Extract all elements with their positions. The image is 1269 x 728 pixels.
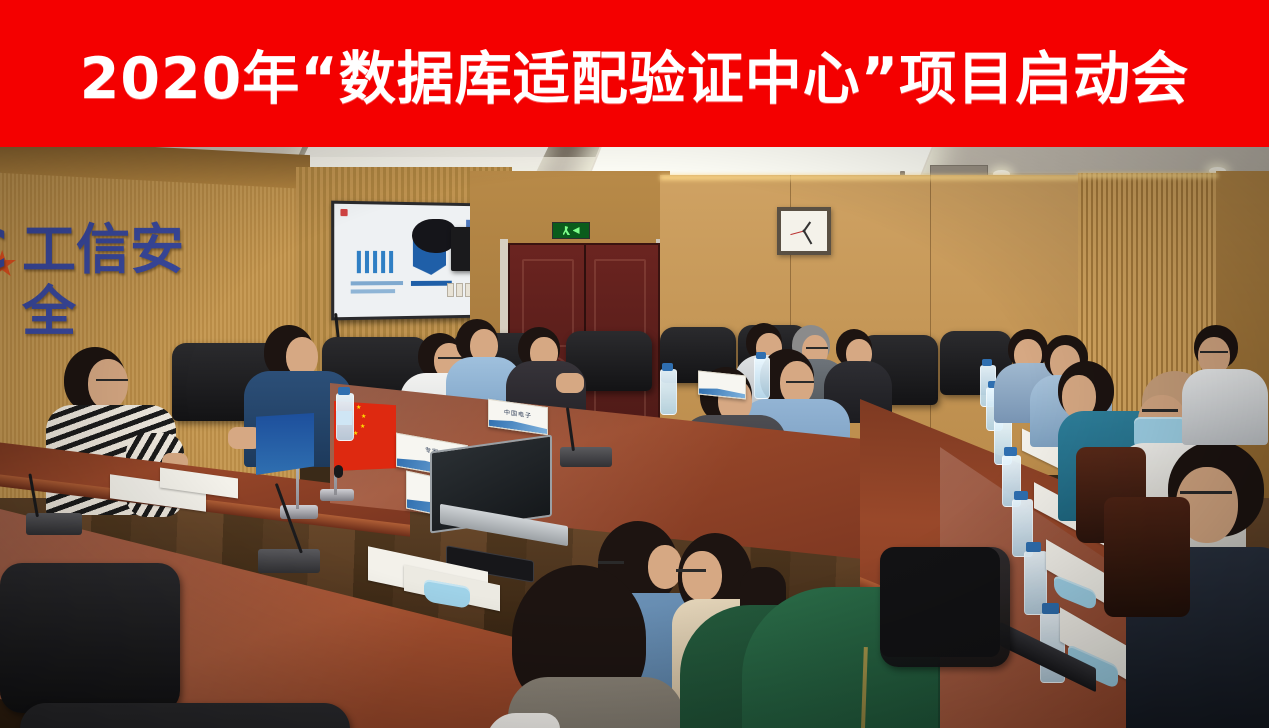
slide-caption-line [351,281,403,285]
clock-center-pin [803,230,806,233]
bottle-cap [982,359,992,366]
bottle-cap [1042,603,1059,614]
microphone-base[interactable] [560,447,612,467]
placard-text: 中国电子 [489,405,547,422]
face [648,545,682,589]
flag-star-icon: ★ [361,414,366,420]
clock-minute-hand [803,231,812,245]
cove-light [1078,173,1218,178]
meeting-photograph: ★ C 工信安全 [0,147,1269,728]
chair[interactable] [20,703,350,728]
bottle-cap [662,363,673,371]
glasses-icon [786,381,814,383]
bottle-cap [338,387,350,395]
banner-title-text: 2020年“数据库适配验证中心”项目启动会 [0,0,1269,147]
name-placard [698,370,746,399]
wall-clock [777,207,831,255]
glasses-icon [1142,409,1178,412]
chair[interactable] [1104,497,1190,617]
bottle-cap [1014,491,1028,500]
glasses-icon [676,569,706,572]
exit-sign [552,222,590,239]
wall-switch[interactable] [456,283,463,297]
glasses-icon [806,347,828,349]
wall-sign: ★ C 工信安全 [0,219,204,285]
water-bottle[interactable] [754,357,770,399]
organization-desk-flag [256,413,314,475]
slide-caption-line [411,281,452,286]
hand [556,373,584,393]
title-banner: 2020年“数据库适配验证中心”项目启动会 [0,0,1269,147]
flag-star-icon: ★ [356,405,361,411]
cove-light [660,175,1080,180]
bottle-cap [1026,542,1041,552]
microphone-head [334,465,343,478]
bottle-label [336,411,352,425]
screenshot-root: 2020年“数据库适配验证中心”项目启动会 ★ C 工信安全 [0,0,1269,728]
slide-caption-line [351,289,395,293]
slide-logo-left [357,251,395,273]
wall-switch[interactable] [447,283,454,297]
wall-sign-text: 工信安全 [22,219,204,343]
glasses-icon [598,561,624,564]
glasses-icon [96,379,128,381]
flag-star-icon: ★ [360,424,365,430]
ceiling-mounted-equipment [412,219,456,253]
screen-logo-dot [340,209,347,216]
glasses-icon [1200,351,1228,353]
microphone-base[interactable] [258,549,320,573]
exit-arrow-icon [573,227,580,234]
running-man-icon [563,226,571,235]
wall-sign-logo-mark: C [0,219,8,281]
bottle-cap [1004,447,1017,456]
torso [1182,369,1268,445]
chair[interactable] [0,563,180,713]
glasses-icon [1180,491,1232,494]
microphone-base[interactable] [26,513,82,535]
face [682,551,722,601]
backpack [880,547,1000,657]
bottle-cap [756,352,766,359]
face [88,359,128,409]
water-bottle[interactable] [660,369,677,415]
flag-stand [320,489,354,501]
